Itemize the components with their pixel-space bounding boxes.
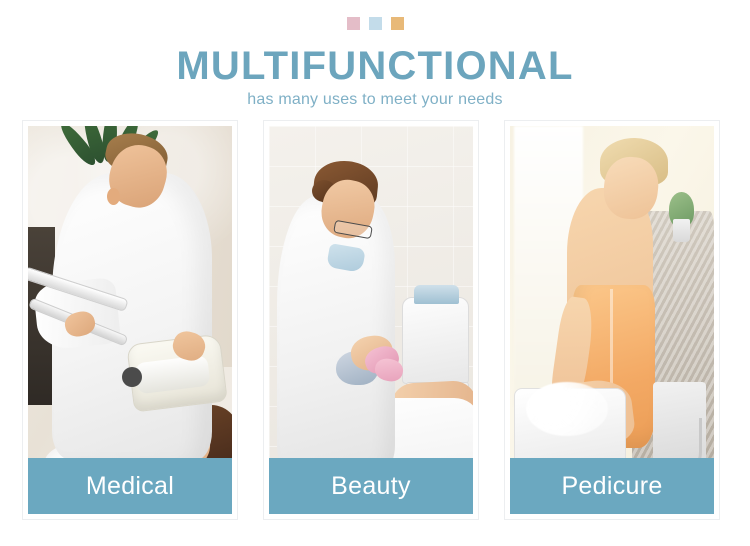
- feature-card-beauty[interactable]: Beauty: [263, 120, 479, 520]
- card-label-bar-pedicure: Pedicure: [510, 458, 714, 514]
- dot-pink-icon: [347, 17, 360, 30]
- card-label-medical: Medical: [86, 474, 174, 499]
- feature-card-list: Medical: [22, 120, 728, 520]
- card-inner: Beauty: [269, 126, 473, 514]
- page-title: MULTIFUNCTIONAL: [0, 45, 750, 87]
- decorative-dots: [0, 17, 750, 30]
- card-label-bar-medical: Medical: [28, 458, 232, 514]
- feature-card-medical[interactable]: Medical: [22, 120, 238, 520]
- card-inner: Pedicure: [510, 126, 714, 514]
- feature-card-pedicure[interactable]: Pedicure: [504, 120, 720, 520]
- card-label-beauty: Beauty: [331, 474, 411, 499]
- page-subtitle: has many uses to meet your needs: [0, 91, 750, 109]
- promo-banner: MULTIFUNCTIONAL has many uses to meet yo…: [0, 0, 750, 546]
- medical-photo: [28, 126, 232, 514]
- dot-blue-icon: [369, 17, 382, 30]
- card-label-bar-beauty: Beauty: [269, 458, 473, 514]
- card-label-pedicure: Pedicure: [561, 474, 662, 499]
- beauty-photo: [269, 126, 473, 514]
- card-inner: Medical: [28, 126, 232, 514]
- pedicure-photo: [510, 126, 714, 514]
- dot-orange-icon: [391, 17, 404, 30]
